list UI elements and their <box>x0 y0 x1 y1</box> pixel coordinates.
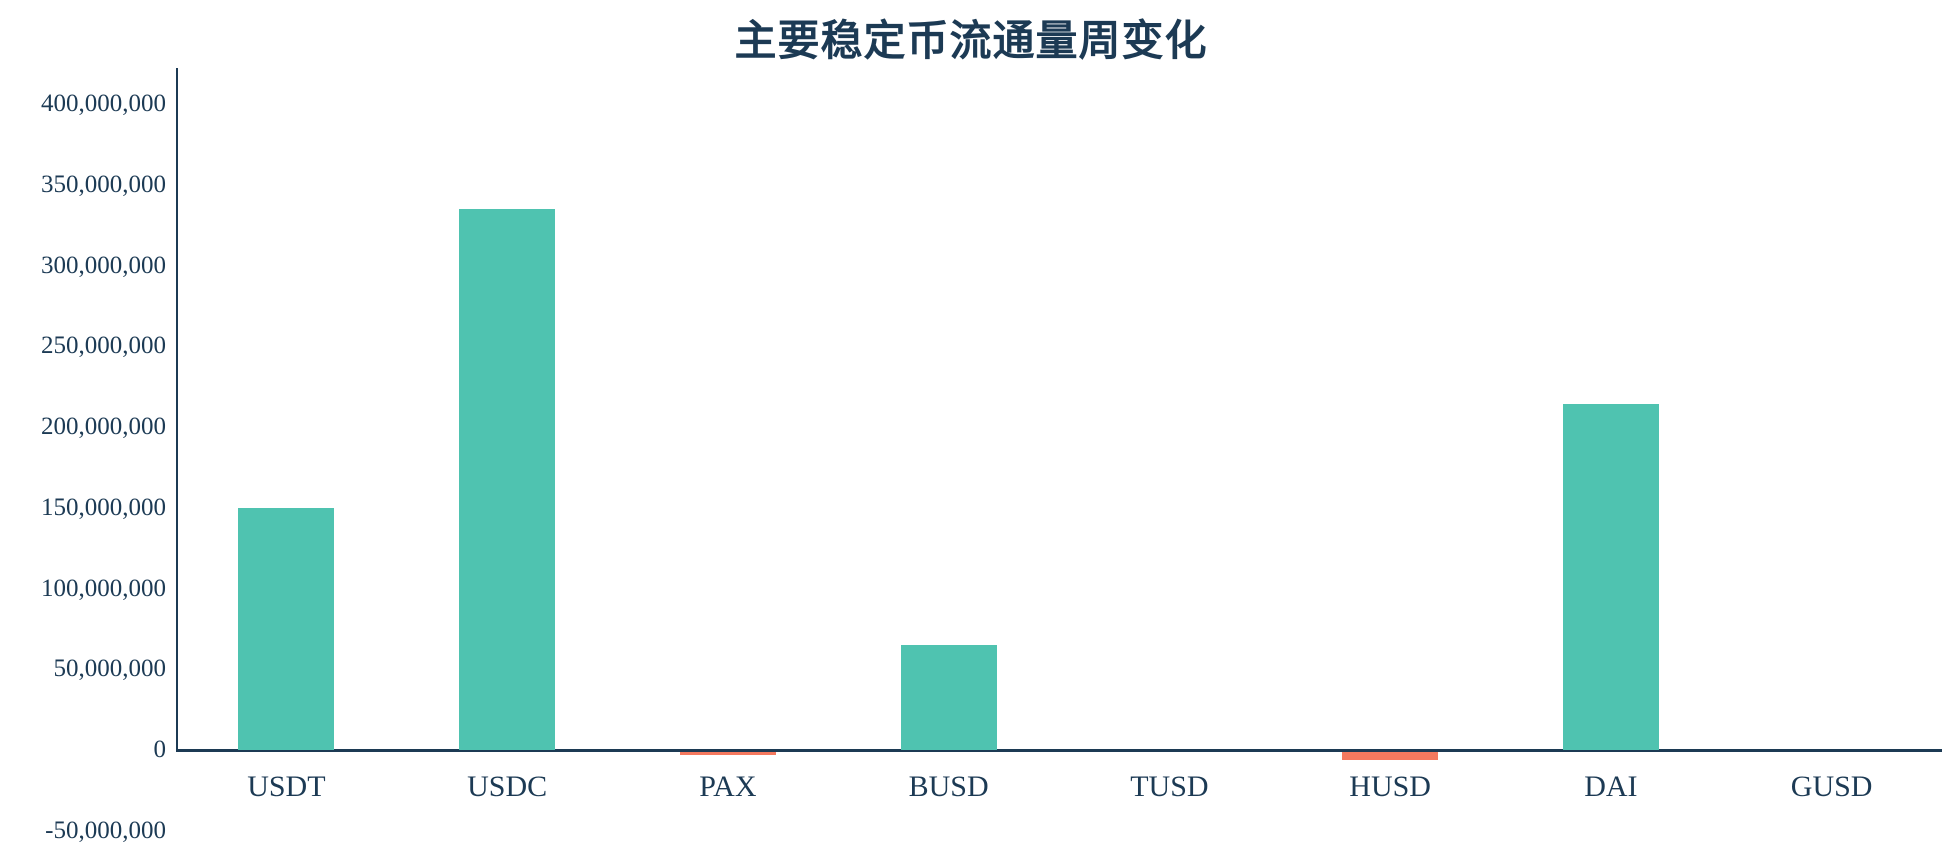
bar-group[interactable]: TUSD <box>1121 0 1217 854</box>
y-axis-tick-label: 350,000,000 <box>6 172 166 197</box>
y-axis-tick-label: 300,000,000 <box>6 253 166 278</box>
x-axis-tick-label-husd: HUSD <box>1282 770 1498 804</box>
y-axis-tick-label: 150,000,000 <box>6 495 166 520</box>
chart-figure: 主要稳定币流通量周变化 400,000,000350,000,000300,00… <box>0 0 1942 854</box>
y-axis-tick-label: 50,000,000 <box>6 656 166 681</box>
x-axis-zero-line <box>176 749 1942 752</box>
bar-group[interactable]: PAX <box>680 0 776 854</box>
bar-busd[interactable] <box>901 645 997 750</box>
bar-group[interactable]: BUSD <box>901 0 997 854</box>
plot-area: USDTUSDCPAXBUSDTUSDHUSDDAIGUSD <box>176 0 1942 854</box>
bar-husd[interactable] <box>1342 752 1438 760</box>
bar-pax[interactable] <box>680 752 776 755</box>
y-axis-tick-label: 100,000,000 <box>6 576 166 601</box>
bar-group[interactable]: DAI <box>1563 0 1659 854</box>
x-axis-tick-label-usdc: USDC <box>399 770 615 804</box>
y-axis-tick-label: 0 <box>6 737 166 762</box>
x-axis-tick-label-pax: PAX <box>620 770 836 804</box>
x-axis-tick-label-gusd: GUSD <box>1724 770 1940 804</box>
bar-usdt[interactable] <box>238 508 334 750</box>
bar-group[interactable]: HUSD <box>1342 0 1438 854</box>
x-axis-tick-label-busd: BUSD <box>841 770 1057 804</box>
y-axis-tick-label: 250,000,000 <box>6 333 166 358</box>
x-axis-tick-label-usdt: USDT <box>178 770 394 804</box>
y-axis-line <box>176 68 178 752</box>
bar-dai[interactable] <box>1563 404 1659 750</box>
bar-usdc[interactable] <box>459 209 555 750</box>
x-axis-tick-label-dai: DAI <box>1503 770 1719 804</box>
y-axis-tick-label: 200,000,000 <box>6 414 166 439</box>
bar-group[interactable]: USDC <box>459 0 555 854</box>
y-axis-tick-label: -50,000,000 <box>6 818 166 843</box>
bar-group[interactable]: GUSD <box>1784 0 1880 854</box>
bar-group[interactable]: USDT <box>238 0 334 854</box>
x-axis-tick-label-tusd: TUSD <box>1061 770 1277 804</box>
y-axis-tick-label: 400,000,000 <box>6 91 166 116</box>
